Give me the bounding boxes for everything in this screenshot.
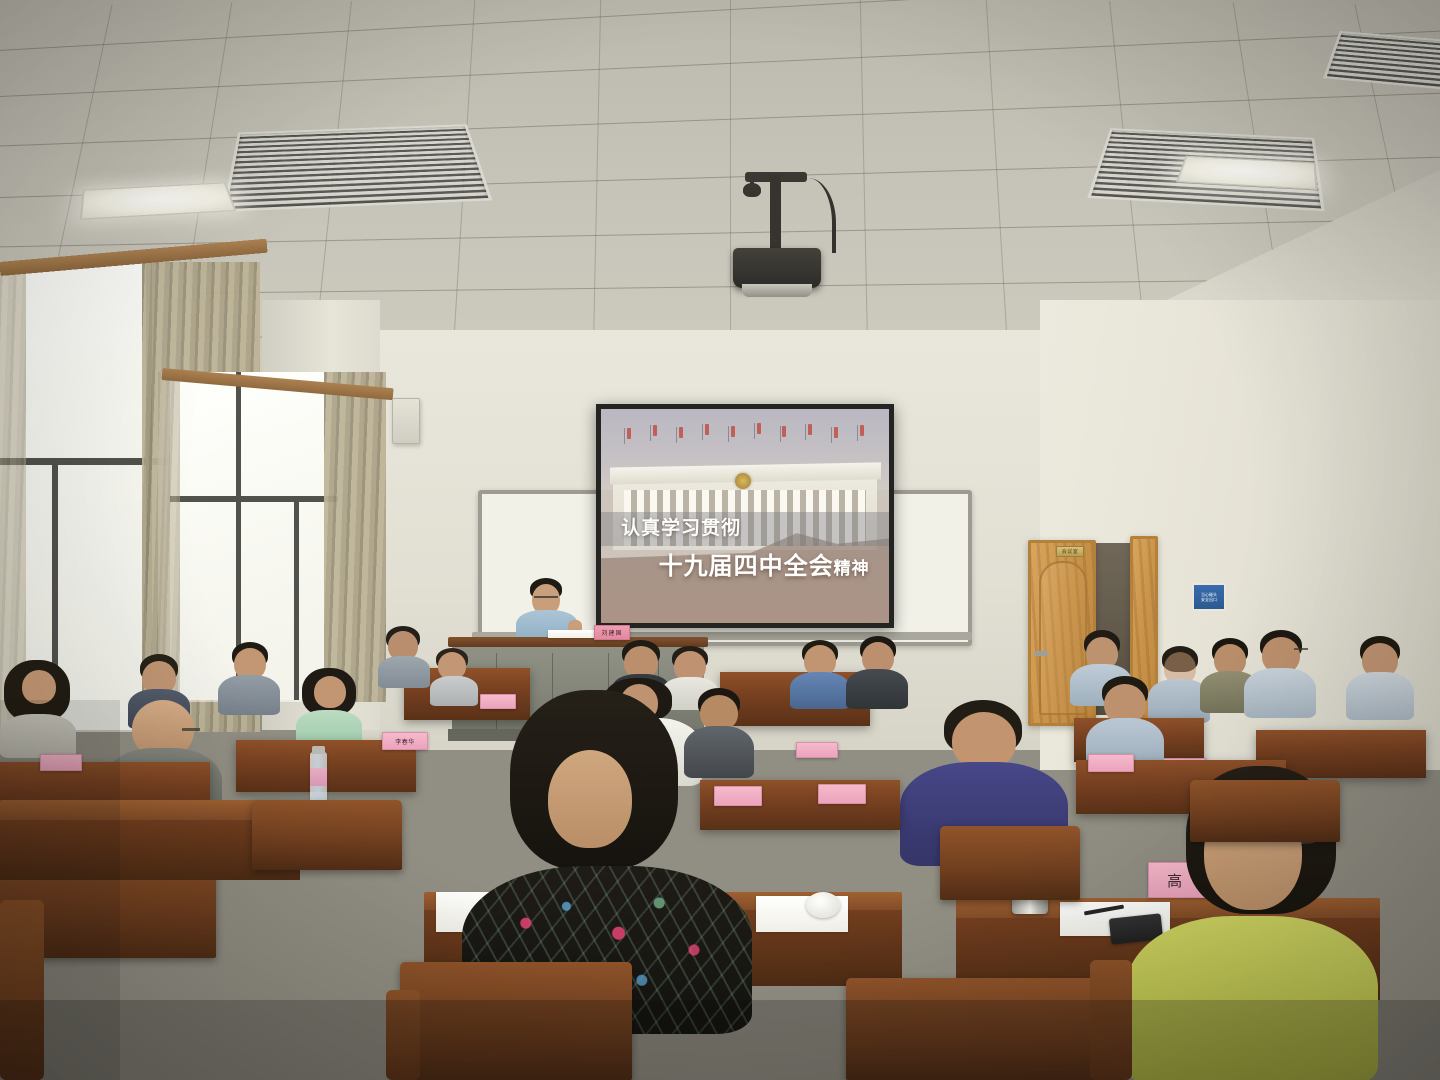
chair-mid-left[interactable] (252, 800, 402, 870)
attendee-far-left-1 (378, 626, 430, 686)
projector-mount-pole (770, 175, 781, 253)
slide-headline-2-main: 十九届四中全会 (659, 552, 834, 580)
wall-speaker (392, 398, 420, 444)
slide-flag-row (601, 422, 889, 452)
attendee-left-back-2 (218, 642, 280, 714)
room-number-plate: 会议室 (1056, 546, 1084, 557)
attendee-left-back-3 (296, 668, 362, 746)
slide-headline-1: 认真学习贯彻 (621, 513, 741, 540)
podium-papers (548, 630, 596, 638)
bottle-cap (312, 746, 325, 754)
safety-sign-line2: 安全出口 (1201, 597, 1217, 602)
conference-room-photo: 认真学习贯彻 十九届四中全会精神 会议室 当心碰头 安全出口 刘建国 (0, 0, 1440, 1080)
attendee-far-right-2 (846, 636, 908, 708)
ceiling-vent (222, 124, 492, 212)
name-card-left-1: 李春华 (382, 732, 428, 750)
ceiling-vent (1323, 31, 1440, 94)
slide-headline-2-suffix: 精神 (834, 559, 870, 579)
name-card-row4 (796, 742, 838, 758)
attendee-far-right-1 (790, 640, 850, 708)
tea-cup (806, 892, 840, 918)
chair-back-right[interactable] (1190, 780, 1340, 842)
bottle-label (310, 768, 327, 786)
ceiling-projector (733, 248, 821, 288)
side-shadow-left (0, 700, 120, 1080)
projection-screen: 认真学习贯彻 十九届四中全会精神 (596, 404, 894, 628)
attendee-right-back-5 (1346, 636, 1414, 720)
national-emblem-icon (735, 473, 751, 489)
slide-headline-2: 十九届四中全会精神 (659, 546, 870, 581)
floor-shadow (0, 1000, 1440, 1080)
podium-name-card: 刘建国 (594, 625, 630, 640)
attendee-right-back-4 (1244, 630, 1316, 716)
ceiling-light-panel (80, 182, 237, 220)
slide-image: 认真学习贯彻 十九届四中全会精神 (601, 409, 889, 623)
projector-lens-icon (742, 284, 812, 297)
door-handle[interactable] (1034, 651, 1048, 656)
presenter-glasses-icon (534, 596, 558, 602)
chair-mid-right[interactable] (940, 826, 1080, 900)
safety-wall-sign: 当心碰头 安全出口 (1192, 583, 1226, 611)
name-card-mid-2 (818, 784, 866, 804)
